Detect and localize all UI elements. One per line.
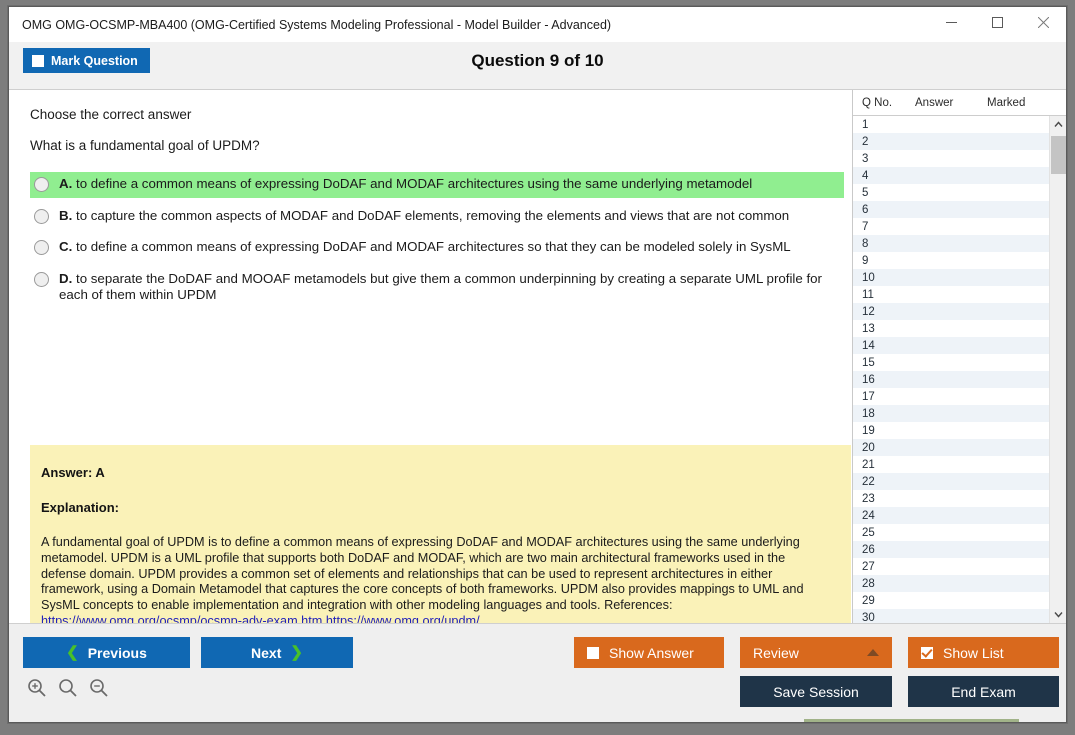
row-question-number: 11 (853, 289, 913, 301)
chevron-left-icon: ❮ (66, 645, 79, 660)
option-text: B. to capture the common aspects of MODA… (59, 208, 789, 225)
row-question-number: 27 (853, 561, 913, 573)
reference-link-1[interactable]: https://www.omg.org/ocsmp/ocsmp-adv-exam… (41, 614, 322, 623)
question-list-row[interactable]: 27 (853, 558, 1049, 575)
scroll-up-button[interactable] (1050, 116, 1066, 133)
zoom-in-icon[interactable] (27, 678, 47, 698)
question-list-row[interactable]: 29 (853, 592, 1049, 609)
answer-option-b[interactable]: B. to capture the common aspects of MODA… (30, 204, 844, 230)
row-question-number: 28 (853, 578, 913, 590)
row-question-number: 6 (853, 204, 913, 216)
question-list-row[interactable]: 9 (853, 252, 1049, 269)
end-exam-label: End Exam (951, 684, 1016, 700)
row-question-number: 24 (853, 510, 913, 522)
answer-option-a[interactable]: A. to define a common means of expressin… (30, 172, 844, 198)
row-question-number: 23 (853, 493, 913, 505)
footer-toolbar: ❮ Previous Next ❯ Show Answer Review Sho… (9, 623, 1066, 722)
question-list-row[interactable]: 11 (853, 286, 1049, 303)
question-counter: Question 9 of 10 (9, 51, 1066, 71)
row-question-number: 20 (853, 442, 913, 454)
row-question-number: 15 (853, 357, 913, 369)
caret-up-icon (867, 649, 879, 656)
question-list-row[interactable]: 8 (853, 235, 1049, 252)
question-list-row[interactable]: 14 (853, 337, 1049, 354)
close-icon (1038, 17, 1049, 28)
show-answer-button[interactable]: Show Answer (574, 637, 724, 668)
answer-options-list: A. to define a common means of expressin… (30, 172, 844, 315)
exam-application-window: OMG OMG-OCSMP-MBA400 (OMG-Certified Syst… (8, 6, 1067, 723)
explanation-text: A fundamental goal of UPDM is to define … (41, 535, 829, 623)
row-question-number: 5 (853, 187, 913, 199)
question-list-row[interactable]: 2 (853, 133, 1049, 150)
question-list-row[interactable]: 5 (853, 184, 1049, 201)
question-list-row[interactable]: 10 (853, 269, 1049, 286)
show-list-label: Show List (943, 645, 1004, 661)
row-question-number: 9 (853, 255, 913, 267)
row-question-number: 14 (853, 340, 913, 352)
row-question-number: 16 (853, 374, 913, 386)
column-header-marked: Marked (987, 97, 1057, 109)
question-list-row[interactable]: 28 (853, 575, 1049, 592)
option-radio-d[interactable] (34, 272, 49, 287)
question-list-row[interactable]: 16 (853, 371, 1049, 388)
row-question-number: 10 (853, 272, 913, 284)
question-list-row[interactable]: 25 (853, 524, 1049, 541)
option-text: D. to separate the DoDAF and MOOAF metam… (59, 271, 838, 304)
choose-answer-prompt: Choose the correct answer (30, 107, 191, 122)
option-radio-c[interactable] (34, 240, 49, 255)
scrollbar-thumb[interactable] (1051, 136, 1066, 174)
show-list-checkbox[interactable] (921, 647, 933, 659)
question-list-header: Q No. Answer Marked (853, 90, 1066, 116)
row-question-number: 12 (853, 306, 913, 318)
maximize-button[interactable] (974, 7, 1020, 38)
previous-button[interactable]: ❮ Previous (23, 637, 190, 668)
question-content-area: Choose the correct answer What is a fund… (9, 90, 854, 623)
row-question-number: 4 (853, 170, 913, 182)
option-text: A. to define a common means of expressin… (59, 176, 752, 193)
row-question-number: 21 (853, 459, 913, 471)
option-radio-a[interactable] (34, 177, 49, 192)
option-radio-b[interactable] (34, 209, 49, 224)
question-list-scrollbar[interactable] (1049, 116, 1066, 623)
maximize-icon (992, 17, 1003, 28)
question-list-row[interactable]: 7 (853, 218, 1049, 235)
next-label: Next (251, 645, 281, 661)
question-list-row[interactable]: 13 (853, 320, 1049, 337)
question-list-row[interactable]: 6 (853, 201, 1049, 218)
row-question-number: 18 (853, 408, 913, 420)
row-question-number: 2 (853, 136, 913, 148)
question-list-row[interactable]: 20 (853, 439, 1049, 456)
row-question-number: 8 (853, 238, 913, 250)
answer-option-c[interactable]: C. to define a common means of expressin… (30, 235, 844, 261)
question-list-row[interactable]: 3 (853, 150, 1049, 167)
question-list-row[interactable]: 4 (853, 167, 1049, 184)
scroll-down-button[interactable] (1050, 606, 1066, 623)
chevron-down-icon (1054, 611, 1063, 618)
question-list-row[interactable]: 30 (853, 609, 1049, 623)
question-list-row[interactable]: 18 (853, 405, 1049, 422)
window-title: OMG OMG-OCSMP-MBA400 (OMG-Certified Syst… (22, 18, 611, 32)
row-question-number: 13 (853, 323, 913, 335)
question-list-row[interactable]: 24 (853, 507, 1049, 524)
question-list-row[interactable]: 26 (853, 541, 1049, 558)
row-question-number: 22 (853, 476, 913, 488)
row-question-number: 25 (853, 527, 913, 539)
minimize-icon (946, 17, 957, 28)
reference-link-2[interactable]: https://www.omg.org/updm/ (326, 614, 480, 623)
save-session-label: Save Session (773, 684, 859, 700)
column-header-qno: Q No. (853, 97, 915, 109)
question-list-row[interactable]: 15 (853, 354, 1049, 371)
explanation-label: Explanation: (41, 500, 829, 515)
header-bar: Mark Question Question 9 of 10 (9, 42, 1066, 90)
save-session-button[interactable]: Save Session (740, 676, 892, 707)
show-answer-checkbox[interactable] (587, 647, 599, 659)
minimize-button[interactable] (928, 7, 974, 38)
option-text: C. to define a common means of expressin… (59, 239, 791, 256)
bottom-edge-tint (804, 719, 1019, 722)
answer-explanation-panel: Answer: A Explanation: A fundamental goa… (30, 445, 851, 623)
question-list-panel: Q No. Answer Marked 12345678910111213141… (852, 90, 1066, 623)
zoom-reset-icon[interactable] (58, 678, 78, 698)
title-bar: OMG OMG-OCSMP-MBA400 (OMG-Certified Syst… (9, 7, 1066, 42)
row-question-number: 29 (853, 595, 913, 607)
row-question-number: 26 (853, 544, 913, 556)
question-list-row[interactable]: 23 (853, 490, 1049, 507)
previous-label: Previous (88, 645, 147, 661)
question-list-row[interactable]: 17 (853, 388, 1049, 405)
row-question-number: 3 (853, 153, 913, 165)
question-text: What is a fundamental goal of UPDM? (30, 138, 260, 153)
question-list-row[interactable]: 22 (853, 473, 1049, 490)
close-button[interactable] (1020, 7, 1066, 38)
column-header-answer: Answer (915, 97, 987, 109)
answer-label: Answer: A (41, 465, 829, 480)
zoom-out-icon[interactable] (89, 678, 109, 698)
zoom-toolbar (27, 678, 109, 698)
question-list-row[interactable]: 12 (853, 303, 1049, 320)
chevron-up-icon (1054, 121, 1063, 128)
review-dropdown-button[interactable]: Review (740, 637, 892, 668)
question-list-row[interactable]: 1 (853, 116, 1049, 133)
show-list-button[interactable]: Show List (908, 637, 1059, 668)
end-exam-button[interactable]: End Exam (908, 676, 1059, 707)
question-list-row[interactable]: 19 (853, 422, 1049, 439)
answer-option-d[interactable]: D. to separate the DoDAF and MOOAF metam… (30, 267, 844, 309)
show-answer-label: Show Answer (609, 645, 694, 661)
question-list-rows: 1234567891011121314151617181920212223242… (853, 116, 1049, 623)
next-button[interactable]: Next ❯ (201, 637, 353, 668)
review-label: Review (753, 645, 799, 661)
row-question-number: 17 (853, 391, 913, 403)
row-question-number: 19 (853, 425, 913, 437)
chevron-right-icon: ❯ (290, 645, 303, 660)
row-question-number: 7 (853, 221, 913, 233)
question-list-row[interactable]: 21 (853, 456, 1049, 473)
row-question-number: 1 (853, 119, 913, 131)
row-question-number: 30 (853, 612, 913, 624)
